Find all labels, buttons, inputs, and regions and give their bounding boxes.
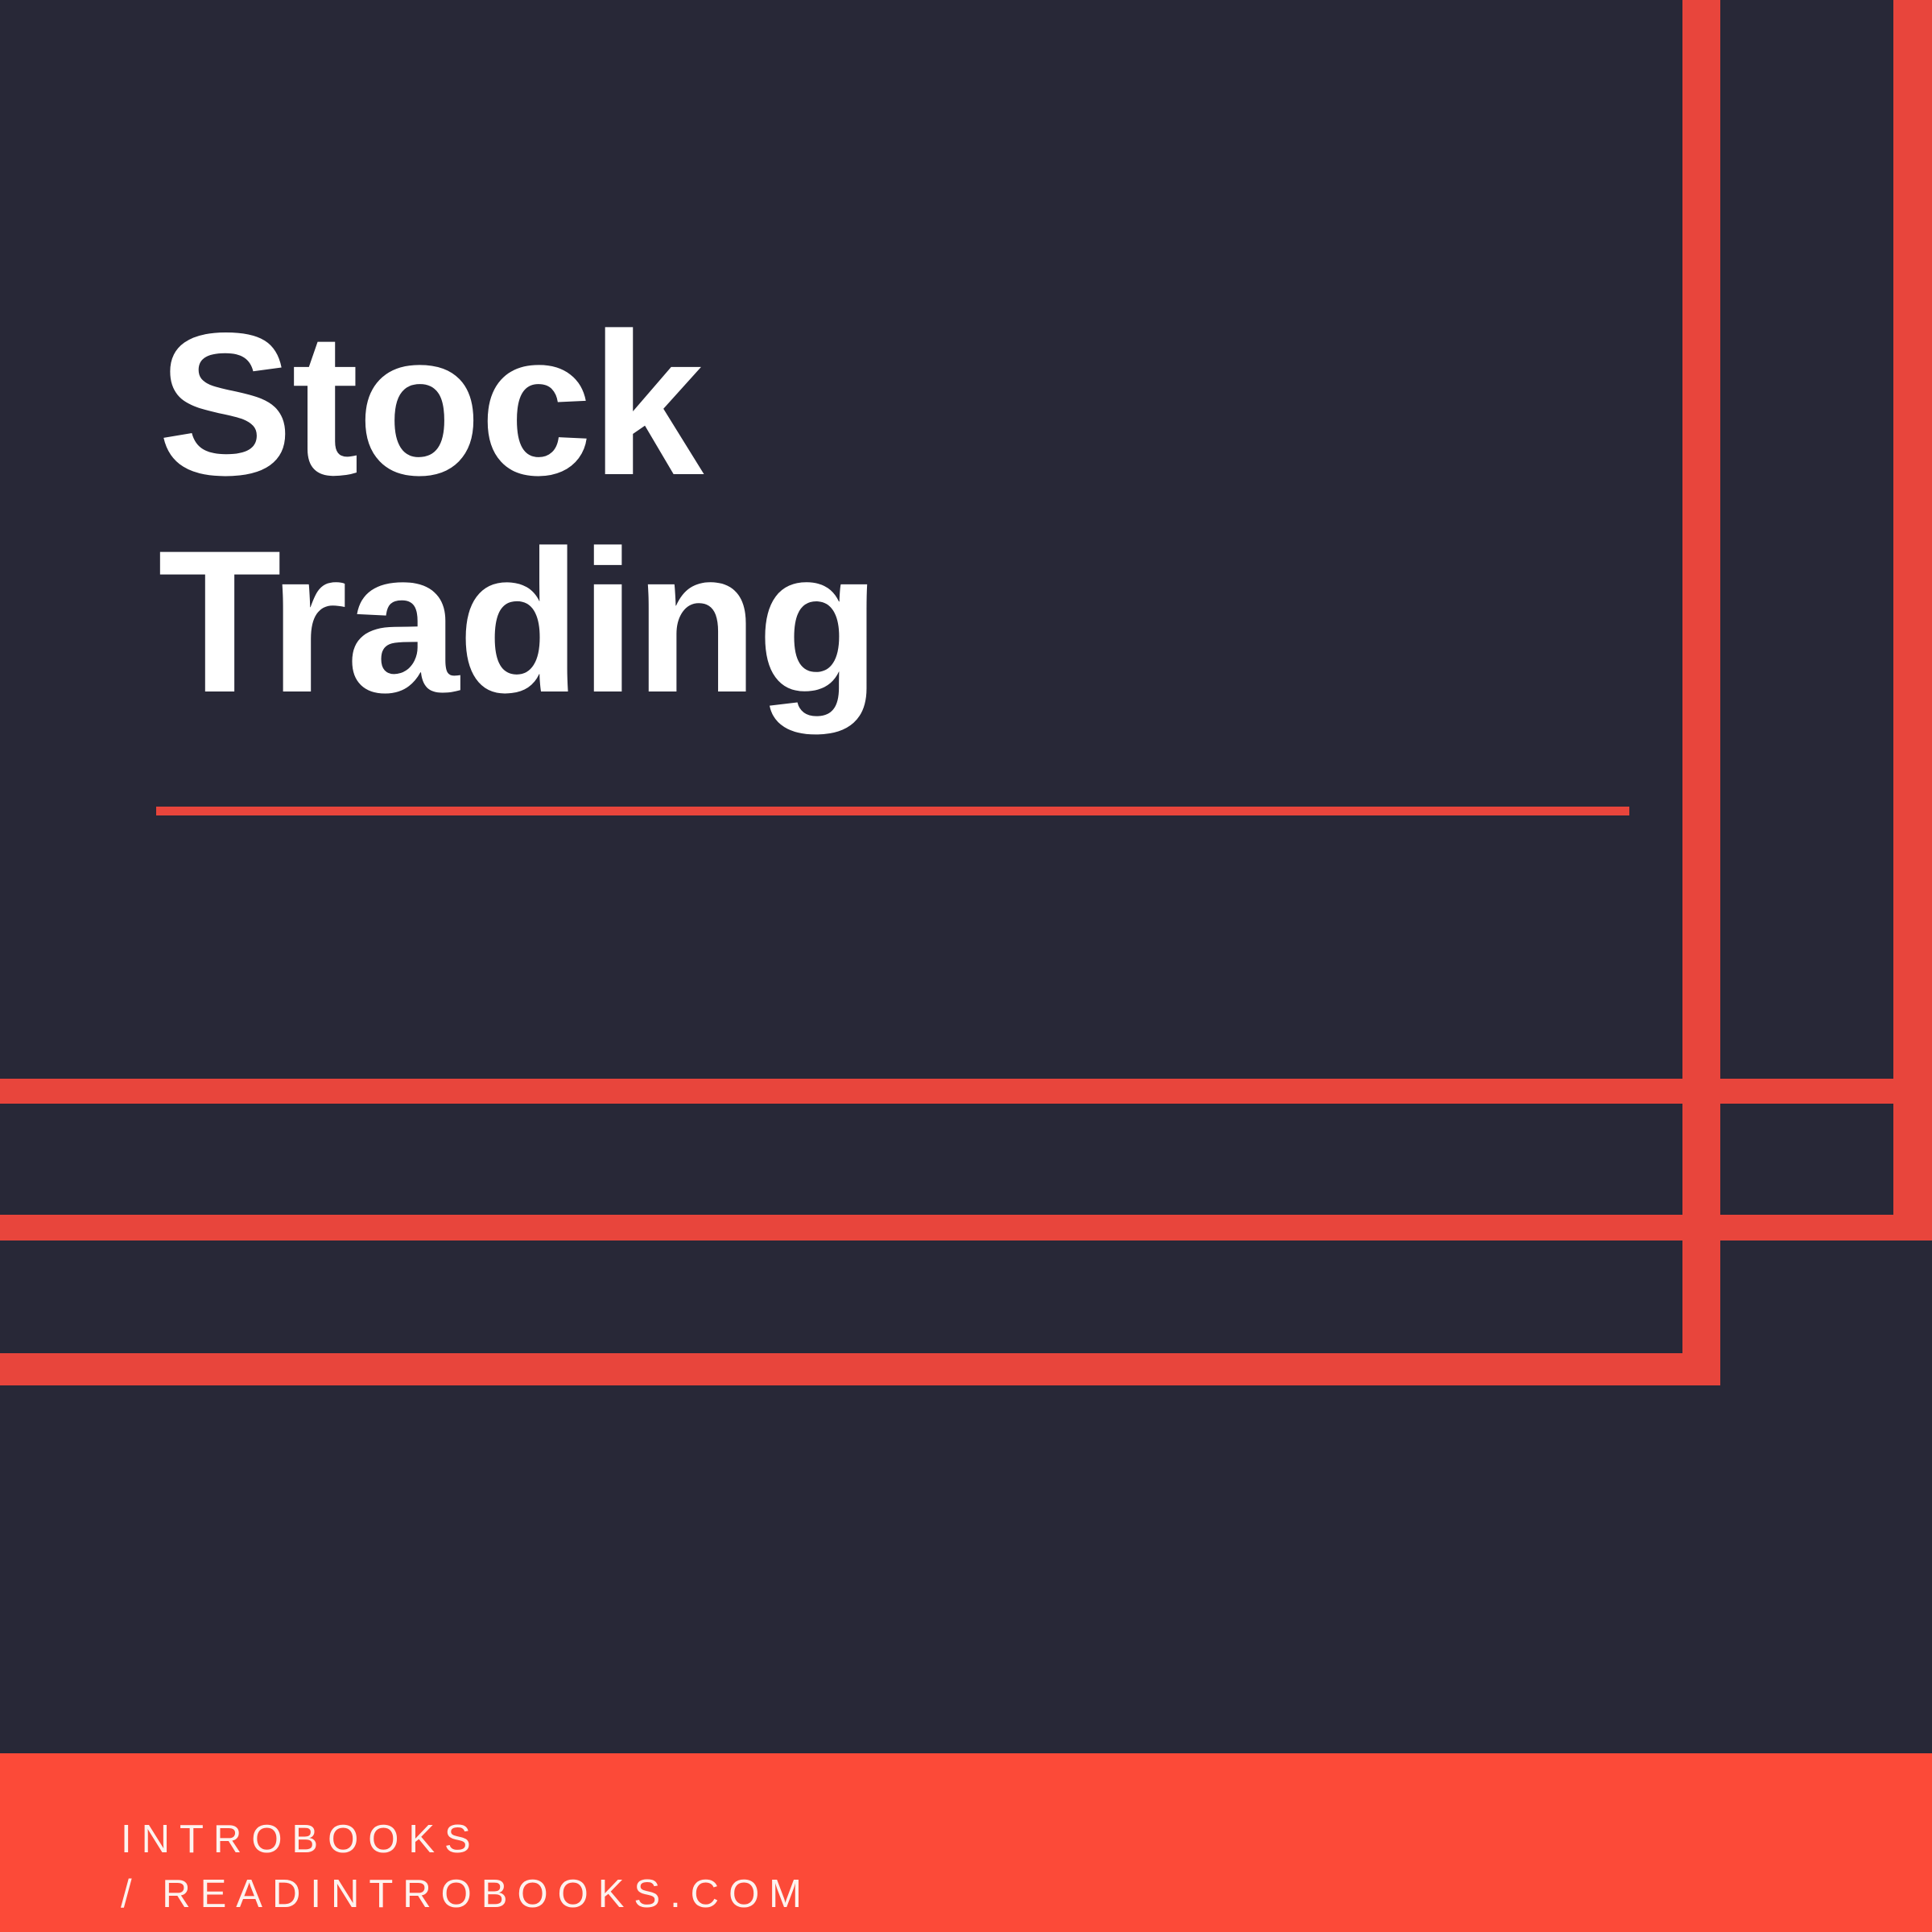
title-underline-rule [156,807,1629,815]
vertical-accent-rule-outer [1682,0,1720,1385]
publisher-website: / READINTROBOOKS.COM [121,1868,1731,1922]
horizontal-accent-rule-bottom [0,1353,1720,1385]
horizontal-accent-rule-middle [0,1215,1932,1241]
vertical-accent-rule-inner [1893,0,1932,1241]
book-title: Stock Trading [158,296,1647,730]
footer-imprint: INTROBOOKS / READINTROBOOKS.COM [121,1813,1731,1922]
cover-background [0,0,1932,1932]
book-cover: Stock Trading INTROBOOKS / READINTROBOOK… [0,0,1932,1932]
horizontal-accent-rule-top [0,1079,1932,1104]
book-title-line-2: Trading [158,514,1647,731]
publisher-name: INTROBOOKS [121,1813,1731,1868]
book-title-line-1: Stock [158,296,1647,514]
